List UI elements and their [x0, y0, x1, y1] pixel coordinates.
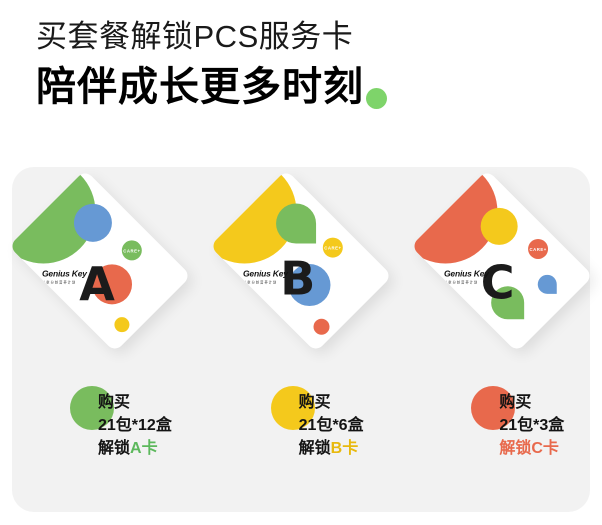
card-c-care-badge: CARE+ [524, 235, 552, 263]
card-b-brand-sub: 儿童分龄营养计划 [243, 280, 339, 285]
card-b-care-badge: CARE+ [319, 233, 347, 261]
offer-c-unlock-label: 解锁 [499, 440, 531, 457]
card-a-brand: Genius Key [42, 269, 138, 278]
card-b-badge-label: CARE+ [324, 245, 341, 250]
offer-item-c[interactable]: 购买 21包*3盒 解锁C卡 [401, 384, 602, 494]
offer-a-unlock-label: 解锁 [98, 440, 130, 457]
offer-a-line2: 21包*12盒 [98, 414, 172, 437]
card-a-badge-label: CARE+ [124, 248, 141, 253]
service-card-row: A CARE+ Genius Key 儿童分龄营养计划 [0, 172, 602, 352]
card-b-artwork: B CARE+ Genius Key 儿童分龄营养计划 [210, 170, 392, 352]
offer-a-card-label: A卡 [130, 440, 158, 457]
offer-row: 购买 21包*12盒 解锁A卡 购买 21包*6盒 解锁B卡 购买 21包*3盒… [0, 384, 602, 494]
service-card-a[interactable]: A CARE+ Genius Key 儿童分龄营养计划 [9, 170, 191, 352]
offer-b-line1: 购买 [299, 391, 364, 414]
headline-title: 陪伴成长更多时刻 [36, 62, 364, 112]
card-slot-b: B CARE+ Genius Key 儿童分龄营养计划 [211, 172, 391, 352]
card-a-care-badge: CARE+ [118, 236, 146, 264]
offer-b-card-label: B卡 [331, 440, 359, 457]
card-c-brand: Genius Key [444, 269, 540, 278]
card-c-badge-label: CARE+ [529, 246, 546, 251]
card-a-brand-sub: 儿童分龄营养计划 [42, 280, 138, 285]
offer-c-text: 购买 21包*3盒 解锁C卡 [499, 391, 564, 460]
card-c-logo: Genius Key 儿童分龄营养计划 [444, 269, 540, 285]
offer-a-line3: 解锁A卡 [98, 437, 172, 460]
offer-a-text: 购买 21包*12盒 解锁A卡 [98, 391, 172, 460]
offer-b-text: 购买 21包*6盒 解锁B卡 [299, 391, 364, 460]
heading-block: 买套餐解锁PCS服务卡 陪伴成长更多时刻 [36, 16, 576, 112]
offer-item-b[interactable]: 购买 21包*6盒 解锁B卡 [201, 384, 402, 494]
offer-c-line1: 购买 [499, 391, 564, 414]
card-a-logo: Genius Key 儿童分龄营养计划 [42, 269, 138, 285]
service-card-c[interactable]: C CARE+ Genius Key 儿童分龄营养计划 [410, 170, 592, 352]
offer-a-line1: 购买 [98, 391, 172, 414]
card-b-brand: Genius Key [243, 269, 339, 278]
headline-accent-dot [366, 88, 387, 109]
card-b-small-dot [310, 315, 333, 338]
card-b-accent-circle [276, 204, 316, 244]
offer-item-a[interactable]: 购买 21包*12盒 解锁A卡 [0, 384, 201, 494]
headline-main-row: 陪伴成长更多时刻 [36, 62, 576, 112]
card-c-brand-sub: 儿童分龄营养计划 [444, 280, 540, 285]
card-a-small-dot [112, 314, 133, 335]
card-b-logo: Genius Key 儿童分龄营养计划 [243, 269, 339, 285]
offer-c-line3: 解锁C卡 [499, 437, 564, 460]
card-slot-a: A CARE+ Genius Key 儿童分龄营养计划 [10, 172, 190, 352]
card-slot-c: C CARE+ Genius Key 儿童分龄营养计划 [412, 172, 592, 352]
offer-c-line2: 21包*3盒 [499, 414, 564, 437]
offer-b-unlock-label: 解锁 [299, 440, 331, 457]
offer-c-card-label: C卡 [531, 440, 559, 457]
card-c-small-dot [537, 275, 556, 294]
offer-b-line3: 解锁B卡 [299, 437, 364, 460]
service-card-b[interactable]: B CARE+ Genius Key 儿童分龄营养计划 [210, 170, 392, 352]
promo-banner: 买套餐解锁PCS服务卡 陪伴成长更多时刻 A CARE+ [0, 0, 602, 525]
offer-b-line2: 21包*6盒 [299, 414, 364, 437]
card-a-artwork: A CARE+ Genius Key 儿童分龄营养计划 [9, 170, 191, 352]
headline-subtitle: 买套餐解锁PCS服务卡 [36, 16, 576, 58]
card-c-artwork: C CARE+ Genius Key 儿童分龄营养计划 [410, 170, 592, 352]
